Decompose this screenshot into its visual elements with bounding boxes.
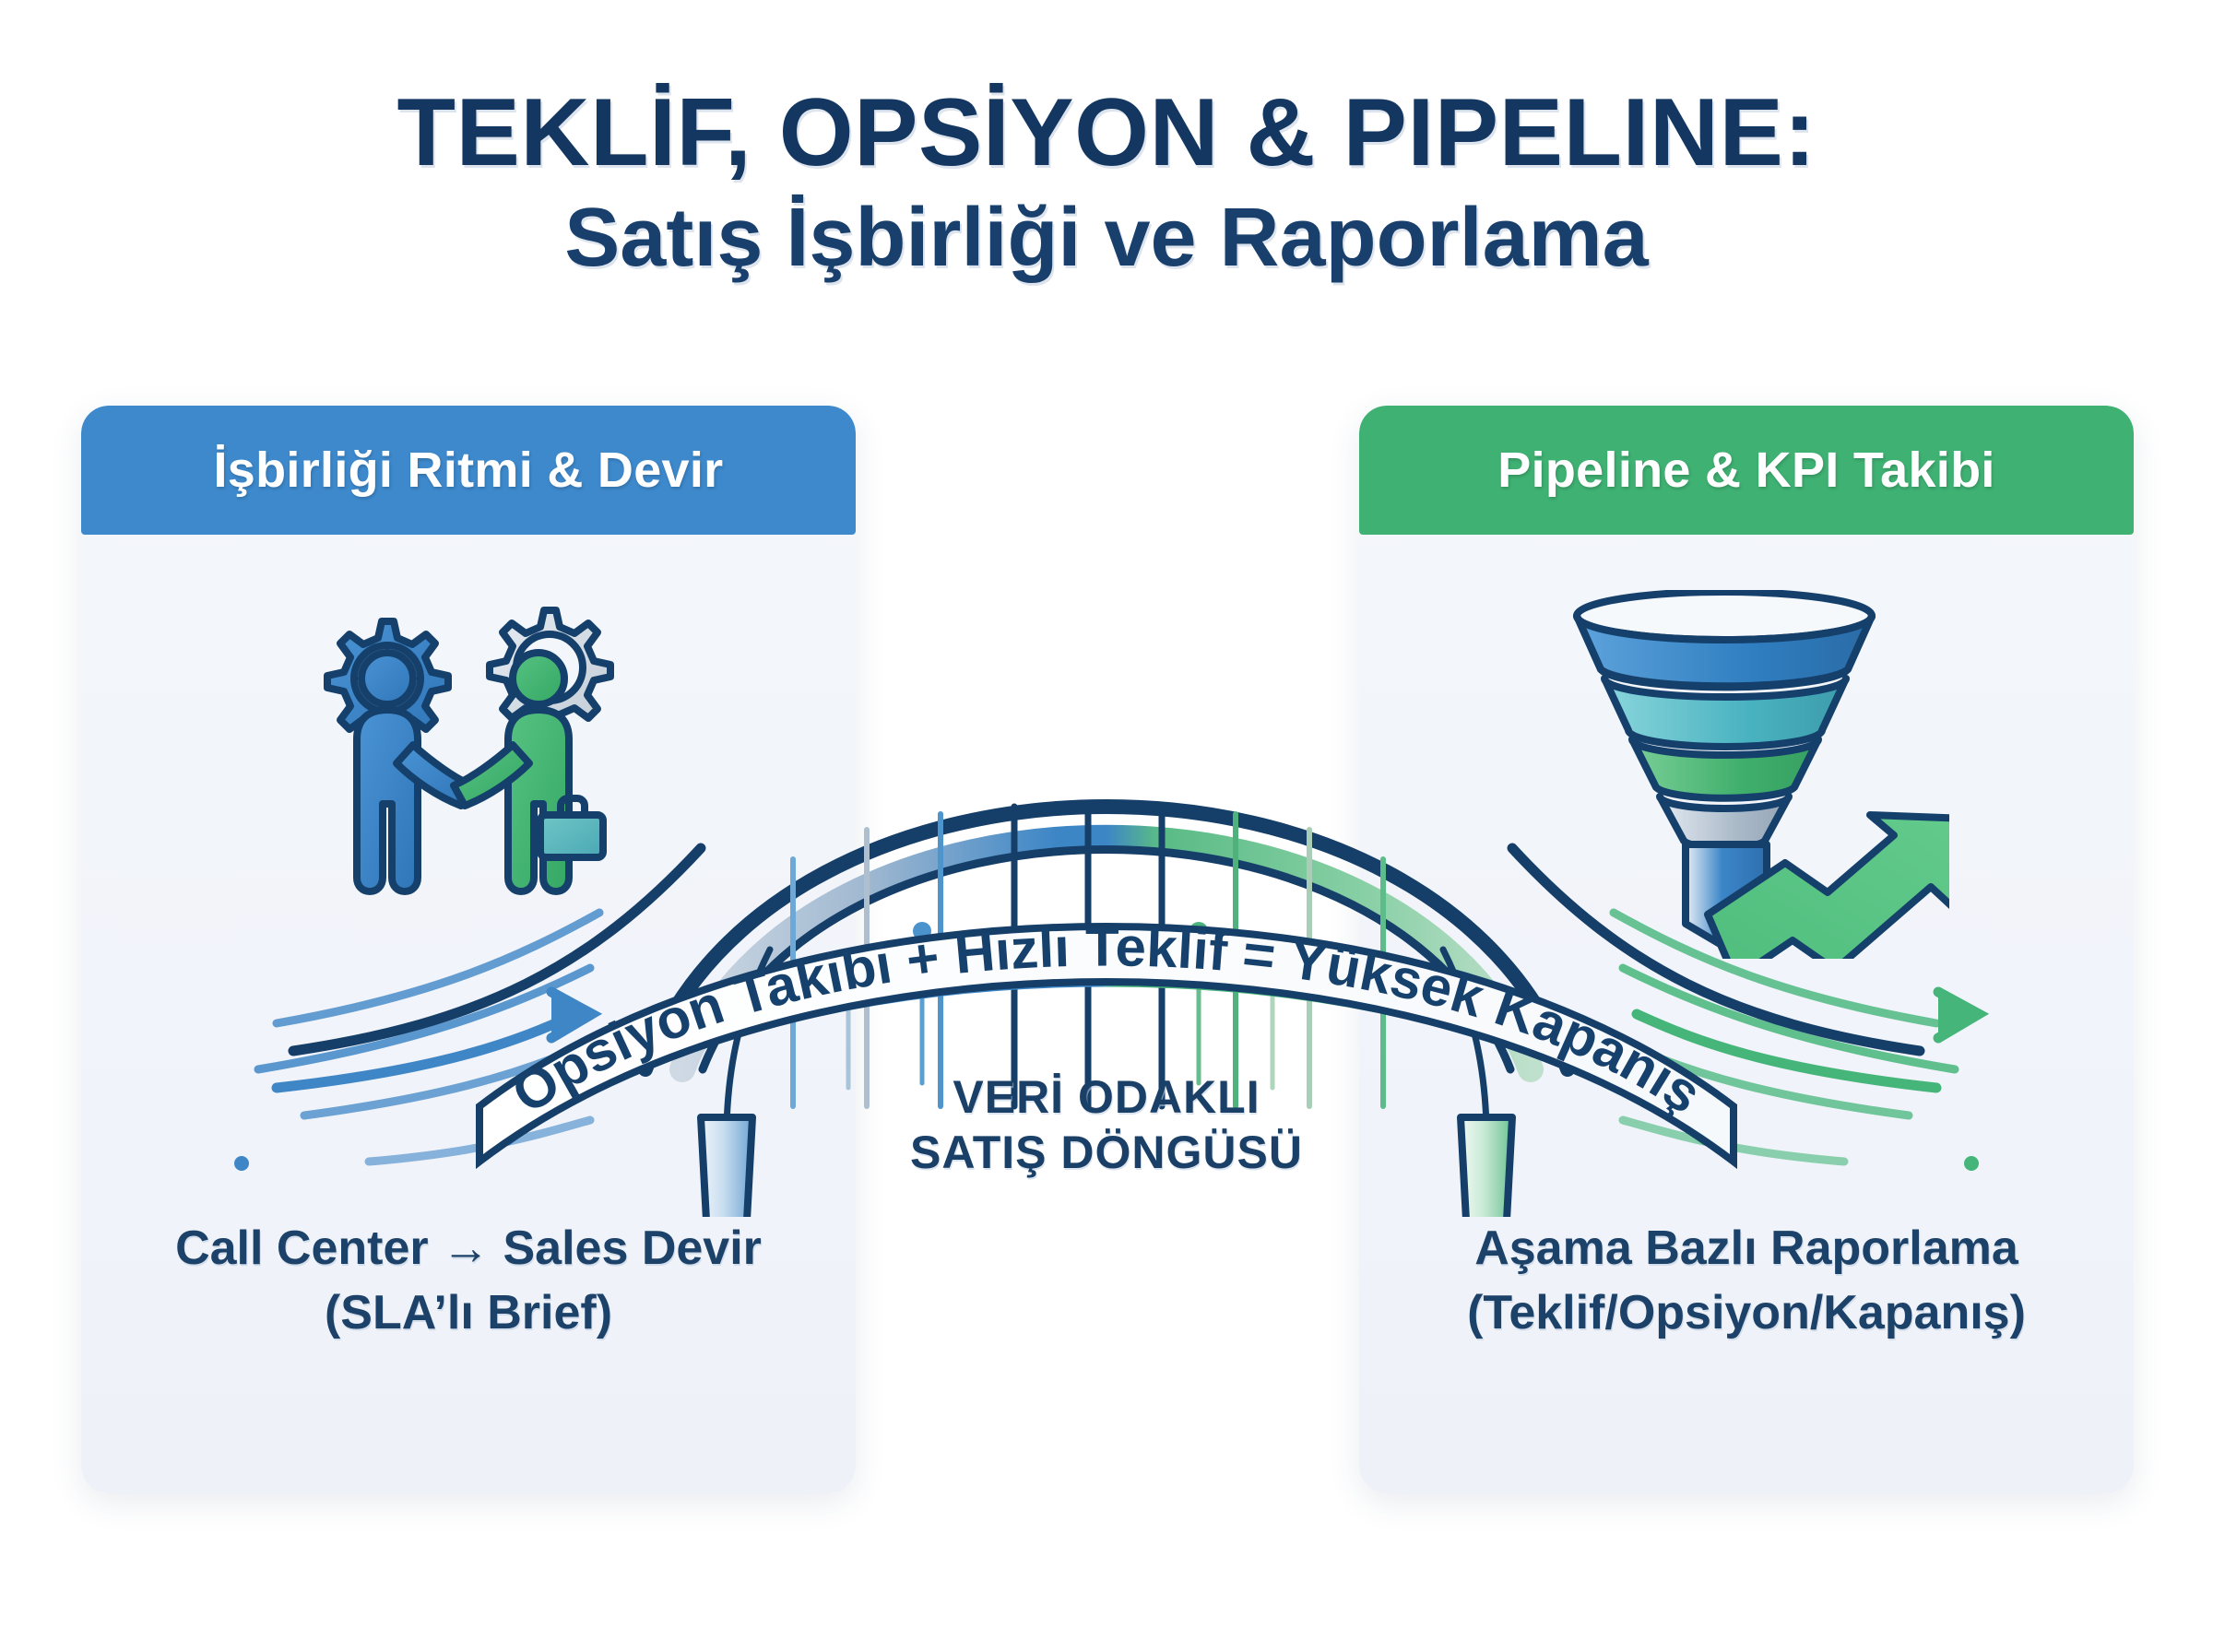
left-card-caption: Call Center → Sales Devir (SLA’lı Brief) bbox=[81, 1217, 856, 1345]
right-card-header-label: Pipeline & KPI Takibi bbox=[1497, 442, 1994, 499]
center-caption: VERİ ODAKLI SATIŞ DÖNGÜSÜ bbox=[910, 1069, 1303, 1180]
left-card-header: İşbirliği Ritmi & Devir bbox=[81, 406, 856, 535]
page-title: TEKLİF, OPSİYON & PIPELINE: Satış İşbirl… bbox=[0, 81, 2213, 285]
title-line-1: TEKLİF, OPSİYON & PIPELINE: bbox=[0, 81, 2213, 184]
right-card-header: Pipeline & KPI Takibi bbox=[1359, 406, 2134, 535]
title-line-2: Satış İşbirliği ve Raporlama bbox=[0, 192, 2213, 285]
infographic-canvas: TEKLİF, OPSİYON & PIPELINE: Satış İşbirl… bbox=[0, 0, 2213, 1652]
center-caption-line-1: VERİ ODAKLI bbox=[910, 1069, 1303, 1125]
left-card-header-label: İşbirliği Ritmi & Devir bbox=[213, 442, 723, 499]
right-caption-line-1: Aşama Bazlı Raporlama bbox=[1359, 1217, 2134, 1281]
right-card-caption: Aşama Bazlı Raporlama (Teklif/Opsiyon/Ka… bbox=[1359, 1217, 2134, 1345]
left-caption-line-1: Call Center → Sales Devir bbox=[81, 1217, 856, 1281]
left-caption-line-2: (SLA’lı Brief) bbox=[81, 1281, 856, 1346]
right-caption-line-2: (Teklif/Opsiyon/Kapanış) bbox=[1359, 1281, 2134, 1346]
center-caption-line-2: SATIŞ DÖNGÜSÜ bbox=[910, 1125, 1303, 1180]
